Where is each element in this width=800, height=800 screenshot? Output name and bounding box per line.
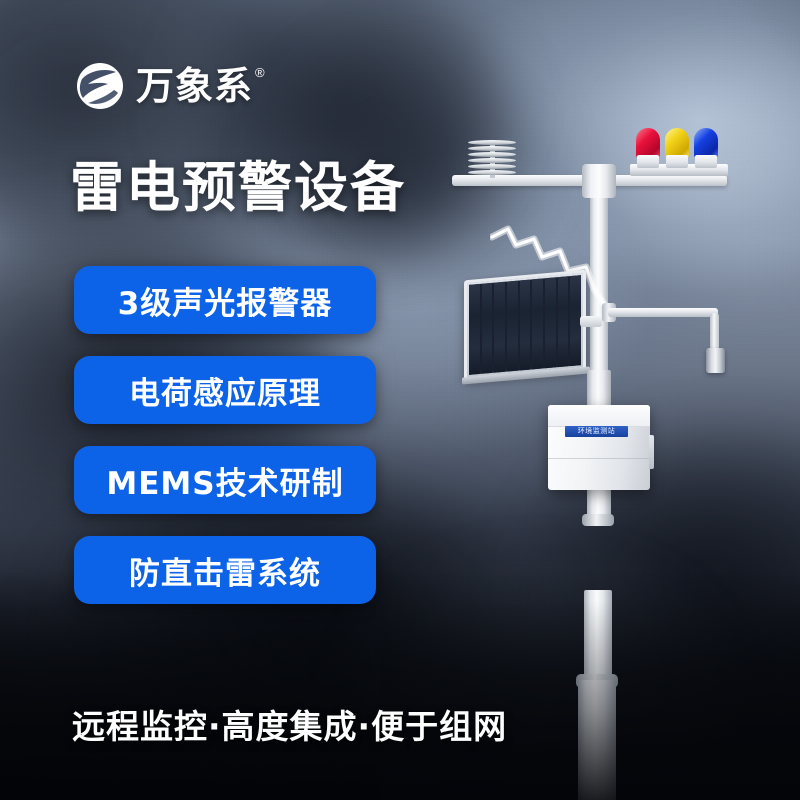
cylindrical-sensor xyxy=(706,348,725,373)
enclosure-side-flap xyxy=(649,435,654,469)
shield-plate xyxy=(468,170,516,175)
feature-pill-1[interactable]: 3级声光报警器 xyxy=(74,266,376,334)
solar-cell-column xyxy=(558,276,569,367)
solar-cell-column xyxy=(482,283,493,374)
red-beacon-dome xyxy=(636,128,660,158)
shield-plate xyxy=(468,158,516,163)
controller-enclosure: 环境监测站 xyxy=(548,405,650,490)
yellow-alarm-beacon xyxy=(665,128,689,168)
feature-label: 电荷感应原理 xyxy=(129,368,321,413)
shield-plate xyxy=(468,152,516,157)
solar-cell-column xyxy=(494,282,505,373)
beacon-base xyxy=(637,155,659,168)
brand-logo: 万象系 ® xyxy=(74,60,265,112)
beacon-base xyxy=(666,155,688,168)
enclosure-lid xyxy=(548,405,650,427)
brand-name-text: 万象系 xyxy=(136,67,253,105)
page-title: 雷电预警设备 xyxy=(70,158,406,217)
feature-list: 3级声光报警器 电荷感应原理 MEMS技术研制 防直击雷系统 xyxy=(74,266,376,604)
solar-cell-column xyxy=(545,277,556,368)
solar-cell-grid xyxy=(469,275,581,375)
red-alarm-beacon xyxy=(636,128,660,168)
shield-plate xyxy=(468,140,516,145)
mast-bottom-section xyxy=(578,680,616,800)
solar-panel-bracket xyxy=(580,316,602,327)
mast-collar xyxy=(582,514,614,526)
feature-label: 3级声光报警器 xyxy=(118,278,333,323)
solar-cell-column xyxy=(532,278,543,369)
yellow-beacon-dome xyxy=(665,128,689,158)
enclosure-seam xyxy=(548,458,650,459)
enclosure-label: 环境监测站 xyxy=(565,426,628,437)
lightning-sensor-arm xyxy=(608,308,718,317)
footer-tagline: 远程监控·高度集成·便于组网 xyxy=(72,700,507,748)
feature-label: 防直击雷系统 xyxy=(129,548,321,593)
blue-beacon-dome xyxy=(694,128,718,158)
beacon-base xyxy=(695,155,717,168)
cross-arm-hub xyxy=(582,164,616,198)
swirl-circle-logo-icon xyxy=(74,60,126,112)
feature-pill-2[interactable]: 电荷感应原理 xyxy=(74,356,376,424)
promo-poster: 环境监测站 万象系 ® 雷电预警设备 3级声光报警器 xyxy=(0,0,800,800)
feature-pill-3[interactable]: MEMS技术研制 xyxy=(74,446,376,514)
blue-alarm-beacon xyxy=(694,128,718,168)
feature-pill-4[interactable]: 防直击雷系统 xyxy=(74,536,376,604)
solar-cell-column xyxy=(469,284,480,375)
brand-wordmark: 万象系 ® xyxy=(136,67,265,105)
solar-cell-column xyxy=(507,281,518,372)
radiation-shield-icon xyxy=(468,140,516,176)
solar-cell-column xyxy=(520,280,531,371)
solar-panel xyxy=(464,270,586,381)
shield-plate xyxy=(468,164,516,169)
mast-upper-section xyxy=(590,168,608,373)
registered-trademark-icon: ® xyxy=(255,65,265,80)
enclosure-label-text: 环境监测站 xyxy=(578,428,616,435)
feature-label: MEMS技术研制 xyxy=(106,458,343,503)
lightning-warning-device: 环境监测站 xyxy=(430,120,770,800)
shield-plate xyxy=(468,146,516,151)
